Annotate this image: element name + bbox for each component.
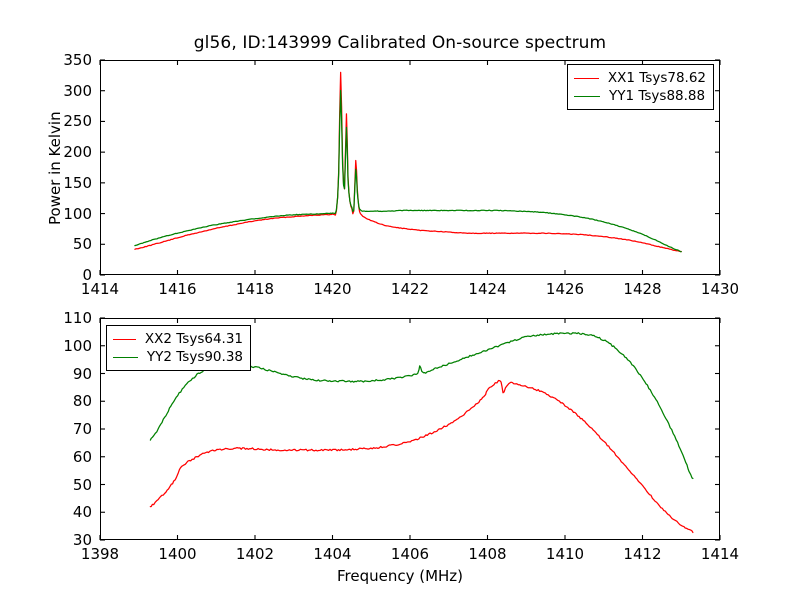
- x-tick-label: 1416: [148, 280, 208, 298]
- y-tick-label: 300: [34, 82, 92, 100]
- x-tick-label: 1400: [148, 545, 208, 563]
- y-tick-label: 110: [34, 309, 92, 327]
- legend-item[interactable]: YY2 Tsys90.38: [113, 348, 243, 366]
- x-tick-label: 1424: [458, 280, 518, 298]
- x-tick-label: 1414: [690, 545, 750, 563]
- y-tick-label: 100: [34, 337, 92, 355]
- y-tick-label: 60: [34, 448, 92, 466]
- bottom-panel-legend[interactable]: XX2 Tsys64.31YY2 Tsys90.38: [106, 325, 251, 371]
- x-tick-label: 1430: [690, 280, 750, 298]
- x-tick-label: 1408: [458, 545, 518, 563]
- legend-item[interactable]: XX2 Tsys64.31: [113, 330, 243, 348]
- y-tick-label: 50: [34, 476, 92, 494]
- x-tick-label: 1402: [225, 545, 285, 563]
- y-tick-label: 200: [34, 143, 92, 161]
- bottom-panel-plot-area: [0, 0, 800, 600]
- x-tick-label: 1404: [303, 545, 363, 563]
- x-tick-label: 1428: [613, 280, 673, 298]
- y-tick-label: 30: [34, 531, 92, 549]
- legend-label: XX2 Tsys64.31: [145, 331, 243, 347]
- x-tick-label: 1420: [303, 280, 363, 298]
- x-tick-label: 1412: [613, 545, 673, 563]
- data-series-xx: [150, 381, 693, 533]
- legend-line-icon: [113, 357, 138, 358]
- legend-line-icon: [113, 339, 136, 340]
- y-tick-label: 70: [34, 420, 92, 438]
- x-tick-label: 1410: [535, 545, 595, 563]
- y-tick-label: 150: [34, 174, 92, 192]
- x-tick-label: 1406: [380, 545, 440, 563]
- y-tick-label: 250: [34, 112, 92, 130]
- y-tick-label: 0: [34, 266, 92, 284]
- y-tick-label: 50: [34, 235, 92, 253]
- legend-label: YY2 Tsys90.38: [147, 349, 243, 365]
- y-tick-label: 90: [34, 365, 92, 383]
- figure-canvas: gl56, ID:143999 Calibrated On-source spe…: [0, 0, 800, 600]
- y-tick-label: 80: [34, 392, 92, 410]
- y-tick-label: 350: [34, 51, 92, 69]
- y-tick-label: 100: [34, 205, 92, 223]
- x-tick-label: 1418: [225, 280, 285, 298]
- x-tick-label: 1422: [380, 280, 440, 298]
- x-tick-label: 1426: [535, 280, 595, 298]
- y-tick-label: 40: [34, 503, 92, 521]
